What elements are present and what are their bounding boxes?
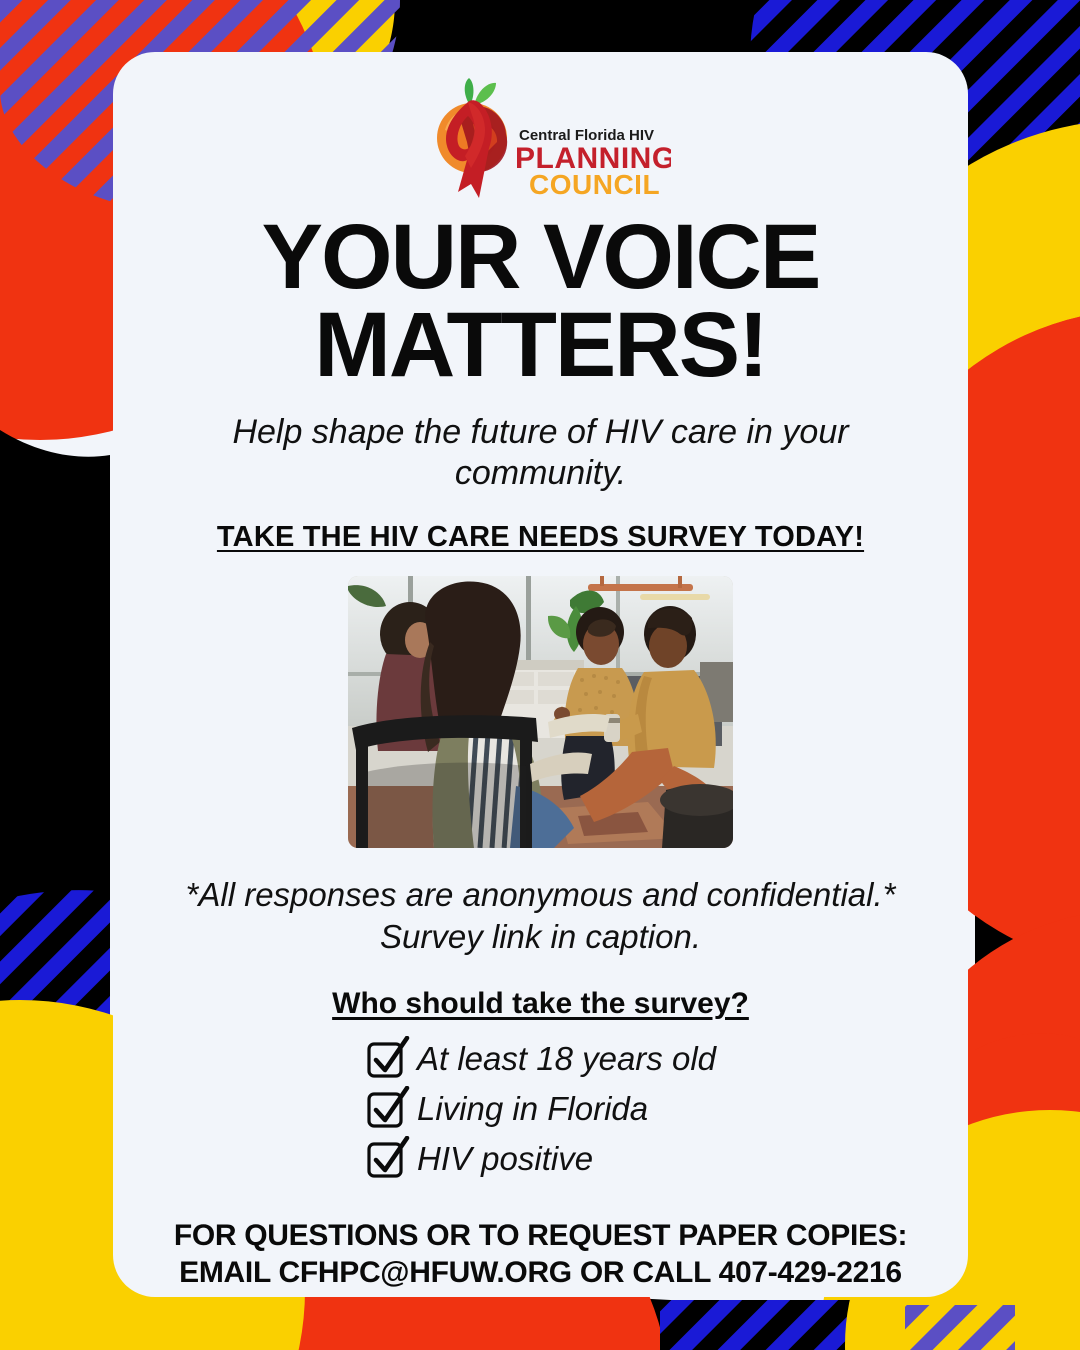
community-photo xyxy=(348,576,733,848)
page-title: YOUR VOICE MATTERS! xyxy=(146,213,936,390)
checklist-item-label: HIV positive xyxy=(417,1142,593,1175)
footer-line-2: EMAIL CFHPC@HFUW.ORG OR CALL 407-429-221… xyxy=(141,1254,941,1292)
checklist-item-label: Living in Florida xyxy=(417,1092,648,1125)
checklist-item: HIV positive xyxy=(365,1135,593,1183)
community-photo-illustration xyxy=(348,576,733,848)
cfhpc-logo-icon: Central Florida HIV PLANNING COUNCIL xyxy=(411,72,671,207)
checklist-item: Living in Florida xyxy=(365,1085,648,1133)
anonymity-note: *All responses are anonymous and confide… xyxy=(131,874,951,957)
logo-word-council: COUNCIL xyxy=(529,169,660,200)
contact-footer: FOR QUESTIONS OR TO REQUEST PAPER COPIES… xyxy=(141,1217,941,1292)
organization-logo: Central Florida HIV PLANNING COUNCIL xyxy=(411,72,671,207)
headline-line-1: YOUR VOICE xyxy=(262,206,820,308)
poster-card: Central Florida HIV PLANNING COUNCIL YOU… xyxy=(113,52,968,1297)
leaf-left-icon xyxy=(464,78,473,103)
checklist-item: At least 18 years old xyxy=(365,1035,716,1083)
checkmark-icon xyxy=(365,1086,411,1132)
checkmark-icon xyxy=(365,1136,411,1182)
subtitle: Help shape the future of HIV care in you… xyxy=(191,412,891,496)
survey-cta-text: TAKE THE HIV CARE NEEDS SURVEY TODAY! xyxy=(217,521,864,554)
checkmark-icon xyxy=(365,1036,411,1082)
leaf-right-icon xyxy=(475,83,496,104)
checklist-item-label: At least 18 years old xyxy=(417,1042,716,1075)
eligibility-heading: Who should take the survey? xyxy=(332,987,749,1021)
eligibility-checklist: At least 18 years old Living in Florida … xyxy=(365,1035,716,1183)
headline-line-2: MATTERS! xyxy=(314,294,766,396)
footer-line-1: FOR QUESTIONS OR TO REQUEST PAPER COPIES… xyxy=(141,1217,941,1255)
